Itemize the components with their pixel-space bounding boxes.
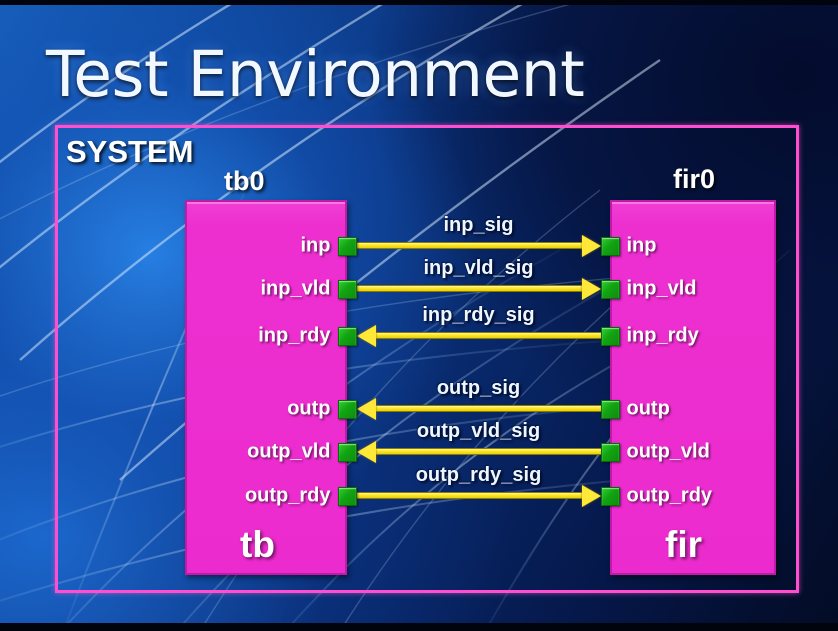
- port-tb-inp[interactable]: [338, 237, 357, 256]
- port-label-fir-outp: outp: [627, 398, 670, 421]
- arrowhead-inp_sig-right: [582, 235, 601, 257]
- signal-label-inp_vld_sig: inp_vld_sig: [423, 257, 533, 280]
- wire-outp_sig: [373, 405, 601, 412]
- port-tb-outp_rdy[interactable]: [338, 487, 357, 506]
- arrowhead-outp_rdy_sig-right: [582, 485, 601, 507]
- port-label-tb-outp_vld: outp_vld: [247, 441, 330, 464]
- port-label-fir-inp_rdy: inp_rdy: [627, 325, 699, 348]
- module-instance-label-fir0: fir0: [673, 164, 715, 195]
- signal-label-outp_vld_sig: outp_vld_sig: [417, 420, 540, 443]
- port-label-tb-outp_rdy: outp_rdy: [245, 485, 331, 508]
- page-title: Test Environment: [46, 38, 584, 111]
- port-tb-outp_vld[interactable]: [338, 443, 357, 462]
- port-label-fir-outp_rdy: outp_rdy: [627, 485, 713, 508]
- port-fir-inp_vld[interactable]: [601, 280, 620, 299]
- signal-label-inp_rdy_sig: inp_rdy_sig: [422, 304, 534, 327]
- wire-inp_rdy_sig: [373, 332, 601, 339]
- port-label-tb-inp: inp: [301, 235, 331, 258]
- port-fir-outp_rdy[interactable]: [601, 487, 620, 506]
- wire-outp_rdy_sig: [357, 492, 585, 499]
- arrowhead-inp_vld_sig-right: [582, 278, 601, 300]
- wire-inp_vld_sig: [357, 285, 585, 292]
- port-fir-inp[interactable]: [601, 237, 620, 256]
- port-label-fir-inp_vld: inp_vld: [627, 278, 697, 301]
- wire-outp_vld_sig: [373, 448, 601, 455]
- port-fir-outp_vld[interactable]: [601, 443, 620, 462]
- port-label-tb-inp_rdy: inp_rdy: [258, 325, 330, 348]
- port-fir-outp[interactable]: [601, 400, 620, 419]
- signal-label-outp_sig: outp_sig: [437, 377, 520, 400]
- port-label-fir-inp: inp: [627, 235, 657, 258]
- module-type-label-fir: fir: [665, 524, 702, 566]
- wire-inp_sig: [357, 242, 585, 249]
- signal-label-inp_sig: inp_sig: [443, 214, 513, 237]
- port-label-fir-outp_vld: outp_vld: [627, 441, 710, 464]
- system-label: SYSTEM: [66, 134, 193, 170]
- letterbox-bottom: [0, 623, 838, 631]
- port-label-tb-outp: outp: [287, 398, 330, 421]
- port-tb-inp_rdy[interactable]: [338, 327, 357, 346]
- arrowhead-inp_rdy_sig-left: [357, 325, 376, 347]
- module-instance-label-tb0: tb0: [224, 166, 265, 197]
- module-type-label-tb: tb: [240, 524, 275, 566]
- port-tb-inp_vld[interactable]: [338, 280, 357, 299]
- port-tb-outp[interactable]: [338, 400, 357, 419]
- letterbox-top: [0, 0, 838, 5]
- port-label-tb-inp_vld: inp_vld: [260, 278, 330, 301]
- signal-label-outp_rdy_sig: outp_rdy_sig: [416, 464, 542, 487]
- arrowhead-outp_sig-left: [357, 398, 376, 420]
- port-fir-inp_rdy[interactable]: [601, 327, 620, 346]
- slide-canvas: Test Environment SYSTEM tb0 fir0 tb fir …: [0, 0, 838, 631]
- arrowhead-outp_vld_sig-left: [357, 441, 376, 463]
